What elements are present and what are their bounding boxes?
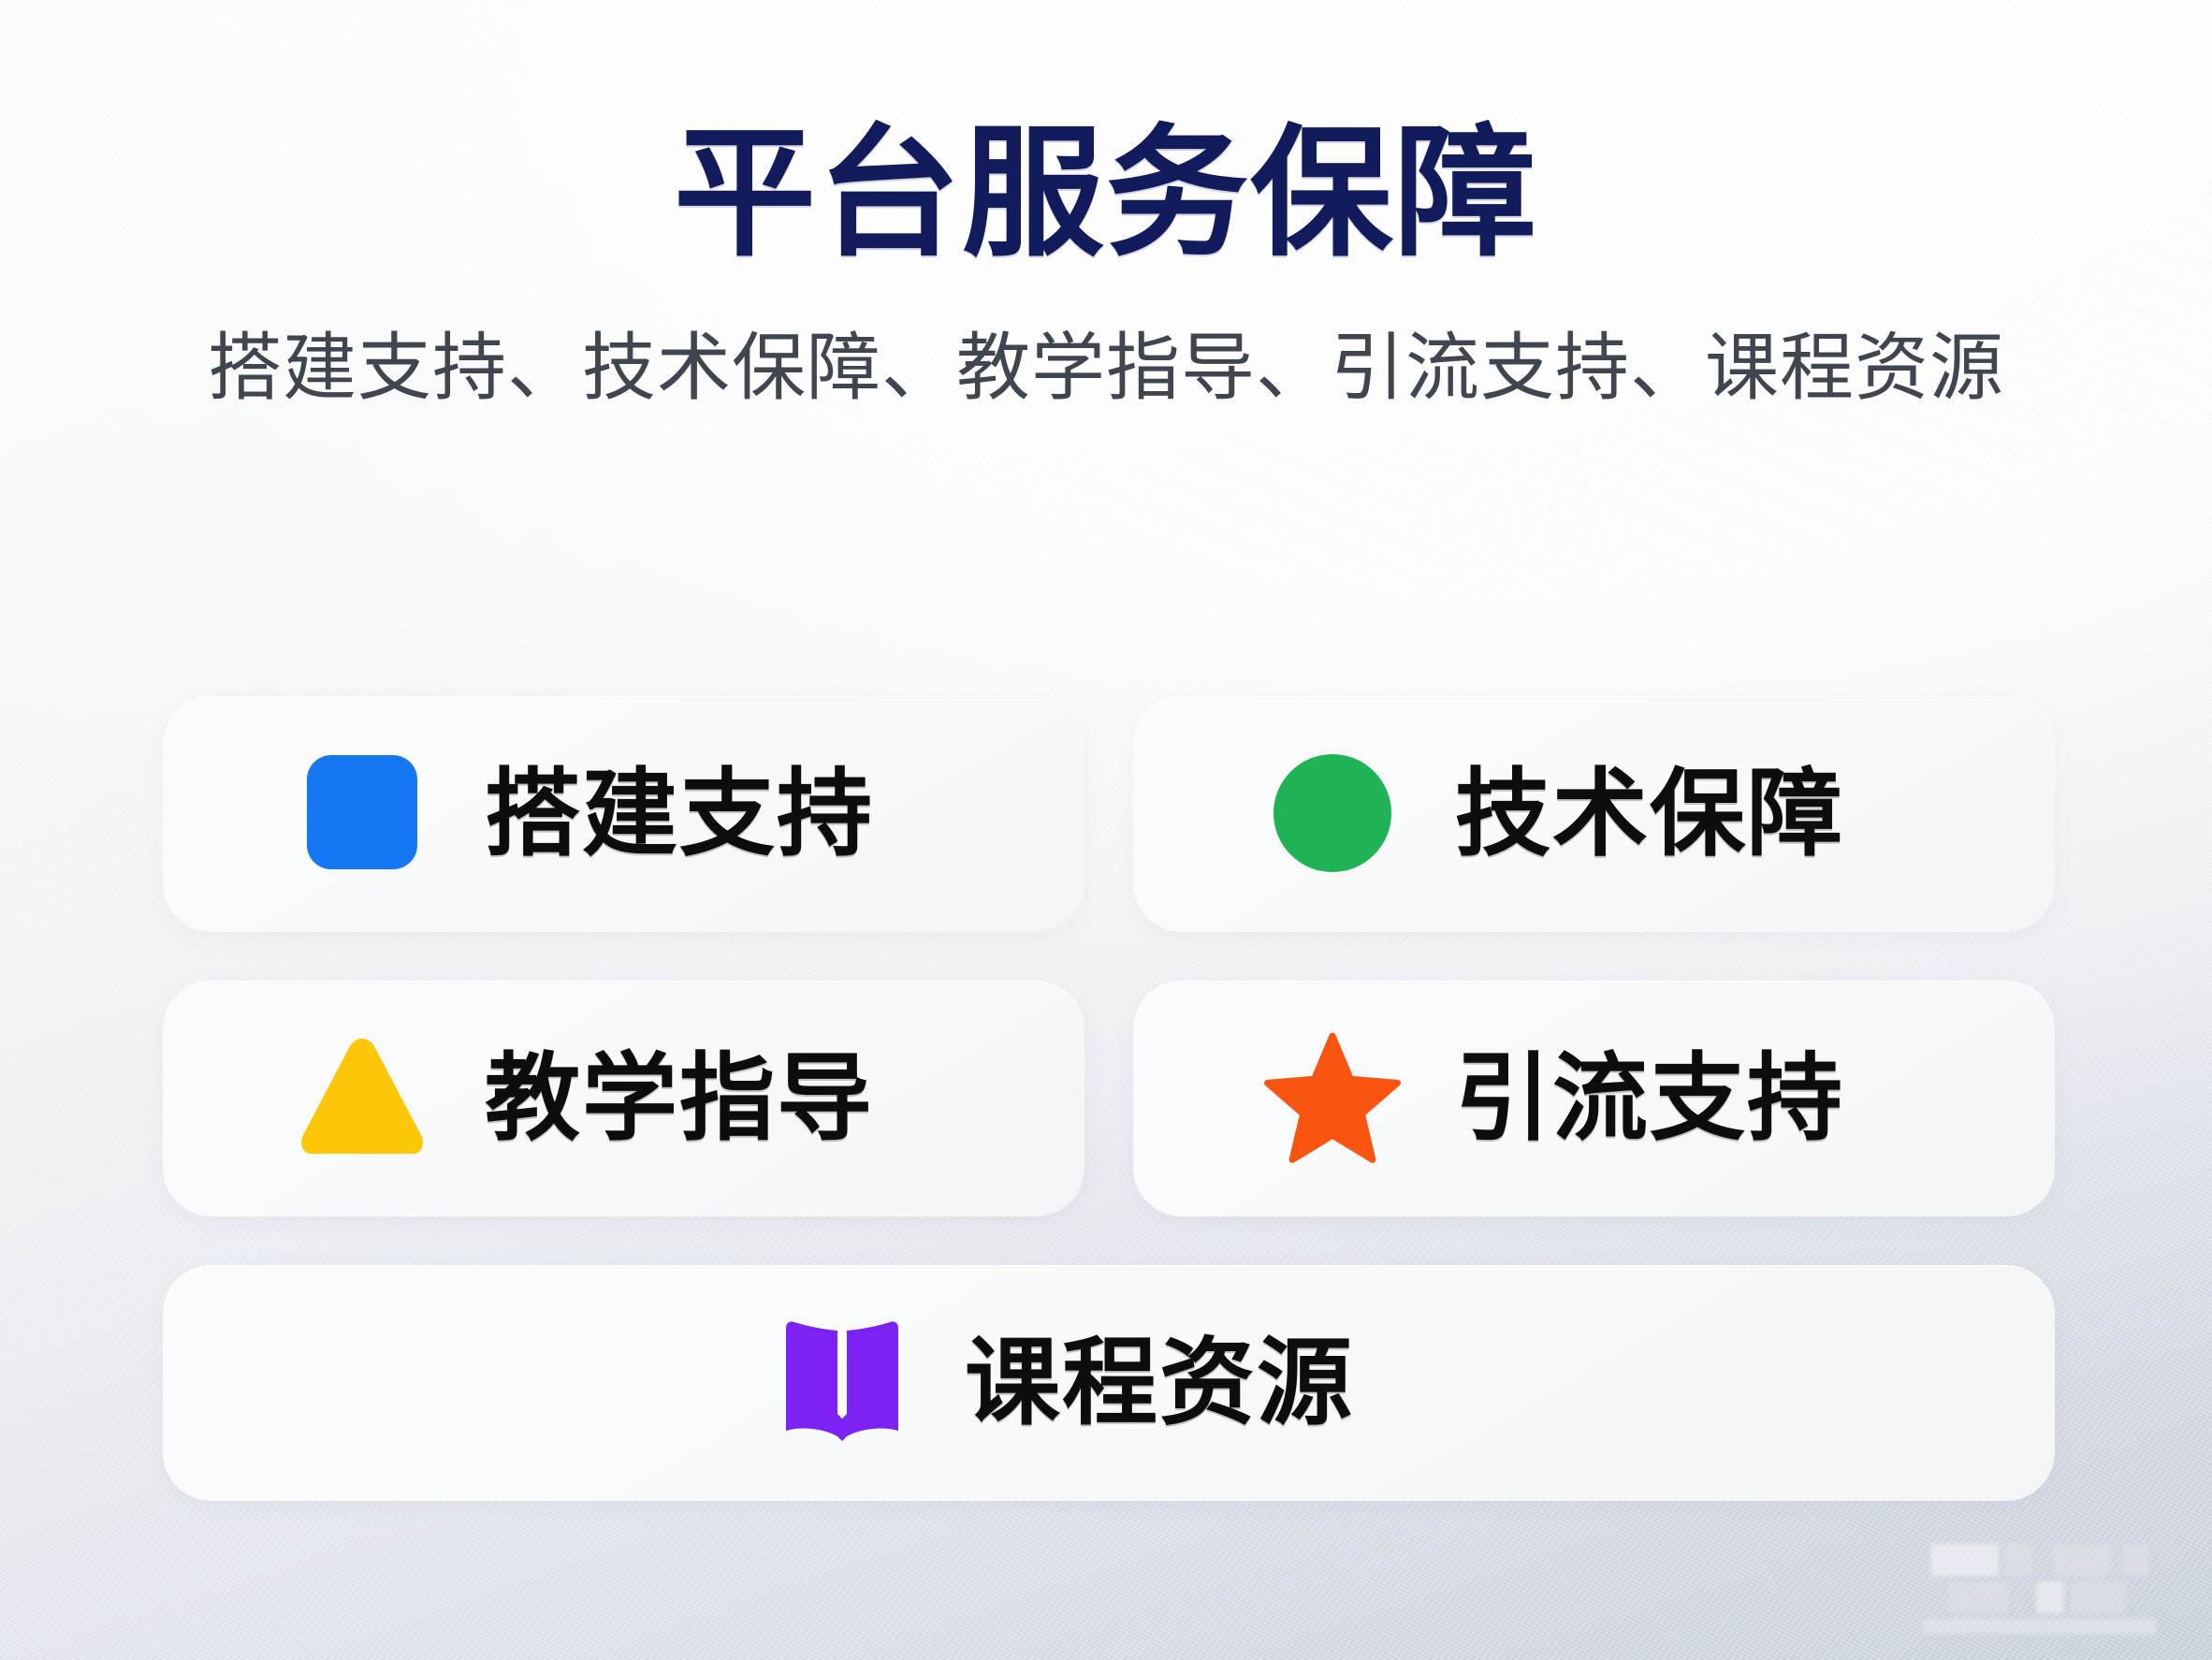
service-card-teaching-guidance[interactable]: 教学指导 (163, 981, 1084, 1216)
watermark-block (2072, 1581, 2126, 1613)
yellow-triangle-icon (294, 1030, 430, 1167)
page-title: 平台服务保障 (0, 0, 2212, 268)
service-cards-grid: 搭建支持 技术保障 (163, 696, 2055, 1501)
watermark-block (1922, 1619, 2156, 1634)
service-card-course-resources[interactable]: 课程资源 (163, 1265, 2055, 1501)
service-card-traffic-support[interactable]: 引流支持 (1133, 981, 2055, 1216)
card-row: 搭建支持 技术保障 (163, 696, 2055, 932)
purple-open-book-icon (774, 1315, 910, 1451)
page-subtitle: 搭建支持、技术保障、教学指导、引流支持、课程资源 (0, 268, 2212, 411)
service-card-label: 搭建支持 (485, 766, 874, 862)
service-card-build-support[interactable]: 搭建支持 (163, 696, 1084, 932)
card-row: 课程资源 (163, 1265, 2055, 1501)
header: 平台服务保障 搭建支持、技术保障、教学指导、引流支持、课程资源 (0, 0, 2212, 411)
slide-canvas: 平台服务保障 搭建支持、技术保障、教学指导、引流支持、课程资源 搭建支持 (0, 0, 2212, 1660)
service-card-label: 课程资源 (965, 1335, 1354, 1431)
card-row: 教学指导 引流支持 (163, 981, 2055, 1216)
watermark-block (2036, 1581, 2064, 1613)
watermark-block (2053, 1544, 2111, 1576)
card-content: 搭建支持 (294, 746, 874, 882)
orange-star-icon (1264, 1030, 1401, 1167)
card-content: 技术保障 (1264, 746, 1844, 882)
watermark-block (1948, 1581, 2008, 1613)
watermark-block (1931, 1544, 1999, 1576)
watermark-block (2122, 1544, 2148, 1576)
card-content: 引流支持 (1264, 1030, 1844, 1167)
watermark-block (2004, 1544, 2032, 1576)
service-card-label: 教学指导 (485, 1051, 874, 1146)
card-content: 教学指导 (294, 1030, 874, 1167)
blue-rounded-square-icon (294, 746, 430, 882)
card-content: 课程资源 (774, 1315, 1354, 1451)
green-circle-icon (1264, 746, 1401, 882)
service-card-label: 引流支持 (1455, 1051, 1844, 1146)
service-card-label: 技术保障 (1455, 766, 1844, 862)
service-card-tech-guarantee[interactable]: 技术保障 (1133, 696, 2055, 932)
watermark (1914, 1540, 2195, 1638)
